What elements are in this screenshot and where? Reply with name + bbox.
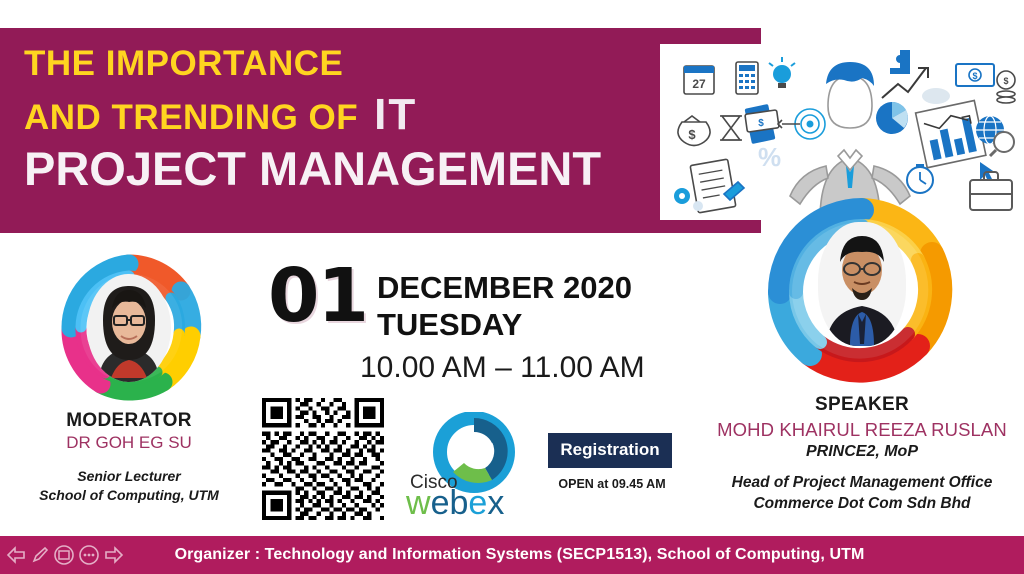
- event-date-row: 01 DECEMBER 2020 TUESDAY: [268, 262, 688, 343]
- moderator-role-label: MODERATOR: [0, 410, 258, 432]
- moderator-details: Senior Lecturer School of Computing, UTM: [0, 467, 258, 505]
- registration-button[interactable]: Registration: [548, 433, 672, 468]
- svg-text:$: $: [688, 127, 696, 142]
- pen-icon[interactable]: [30, 545, 50, 565]
- title-accent-it: IT: [374, 90, 417, 139]
- organizer-text: Organizer : Technology and Information S…: [125, 546, 1024, 564]
- title-line-2: AND TRENDING OFIT: [24, 93, 664, 137]
- webinar-poster: THE IMPORTANCE AND TRENDING OFIT PROJECT…: [0, 0, 1024, 574]
- webex-wordmark: webex: [405, 484, 504, 518]
- more-icon[interactable]: [78, 544, 100, 566]
- footer-icon-group: [5, 544, 125, 566]
- moderator-affiliation: School of Computing, UTM: [0, 486, 258, 505]
- cisco-webex-logo: Cisco webex: [404, 412, 534, 518]
- event-time-range: 10.00 AM – 11.00 AM: [360, 351, 688, 385]
- project-management-illustration: 27 $: [660, 44, 1024, 220]
- event-date-block: 01 DECEMBER 2020 TUESDAY 10.00 AM – 11.0…: [268, 262, 688, 385]
- speaker-photo: [818, 222, 906, 346]
- event-date-text: DECEMBER 2020 TUESDAY: [377, 262, 632, 343]
- title-line-1: THE IMPORTANCE: [24, 46, 664, 81]
- svg-text:27: 27: [692, 77, 706, 91]
- forward-arrow-icon[interactable]: [103, 545, 125, 565]
- moderator-name: DR GOH EG SU: [0, 433, 258, 453]
- speaker-avatar: [762, 196, 962, 388]
- speaker-certifications: PRINCE2, MoP: [700, 443, 1024, 461]
- moderator-position: Senior Lecturer: [0, 467, 258, 486]
- event-weekday: TUESDAY: [377, 307, 632, 344]
- svg-text:$: $: [758, 118, 764, 129]
- qr-code[interactable]: [262, 398, 384, 520]
- moderator-avatar: [53, 252, 205, 404]
- svg-text:$: $: [1003, 76, 1008, 86]
- svg-text:%: %: [758, 142, 781, 172]
- registration-note: OPEN at 09.45 AM: [548, 477, 676, 491]
- event-day-number: 01: [268, 262, 367, 331]
- footer-bar: Organizer : Technology and Information S…: [0, 536, 1024, 574]
- screen-icon[interactable]: [53, 544, 75, 566]
- speaker-affiliation: Head of Project Management Office Commer…: [700, 473, 1024, 515]
- event-month-year: DECEMBER 2020: [377, 270, 632, 307]
- speaker-card: SPEAKER MOHD KHAIRUL REEZA RUSLAN PRINCE…: [700, 196, 1024, 515]
- speaker-role-label: SPEAKER: [700, 394, 1024, 416]
- moderator-card: MODERATOR DR GOH EG SU Senior Lecturer S…: [0, 250, 258, 505]
- speaker-position: Head of Project Management Office: [700, 473, 1024, 494]
- title-line-2-text: AND TRENDING OF: [24, 98, 358, 137]
- speaker-organization: Commerce Dot Com Sdn Bhd: [700, 494, 1024, 515]
- back-arrow-icon[interactable]: [5, 545, 27, 565]
- speaker-name: MOHD KHAIRUL REEZA RUSLAN: [700, 419, 1024, 441]
- registration-group: Registration OPEN at 09.45 AM: [548, 433, 676, 491]
- title-line-3: PROJECT MANAGEMENT: [24, 145, 664, 192]
- svg-text:$: $: [972, 71, 977, 81]
- poster-title: THE IMPORTANCE AND TRENDING OFIT PROJECT…: [24, 46, 664, 192]
- moderator-photo: [87, 274, 171, 382]
